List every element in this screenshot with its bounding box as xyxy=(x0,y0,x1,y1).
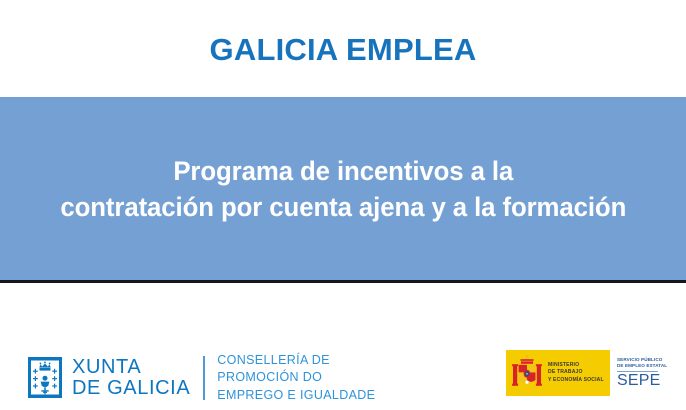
gobierno-espana-sepe-logo: MINISTERIO DE TRABAJO Y ECONOMÍA SOCIAL … xyxy=(506,350,669,396)
galicia-coat-of-arms-icon xyxy=(28,357,62,398)
conselleria-line-3: EMPREGO E IGUALDADE xyxy=(217,387,375,404)
ministerio-line-2: DE TRABAJO xyxy=(548,369,604,377)
conselleria-line-1: CONSELLERÍA DE xyxy=(217,352,375,369)
xunta-wordmark-line-1: XUNTA xyxy=(72,357,190,378)
xunta-wordmark-line-2: DE GALICIA xyxy=(72,378,190,399)
sepe-block: SERVICIO PÚBLICO DE EMPLEO ESTATAL SEPE xyxy=(610,350,669,396)
page-title: GALICIA EMPLEA xyxy=(210,34,477,65)
program-banner: Programa de incentivos a la contratación… xyxy=(0,97,686,283)
xunta-wordmark: XUNTA DE GALICIA xyxy=(72,357,190,399)
banner-subtitle-line-1: Programa de incentivos a la xyxy=(60,154,626,190)
banner-subtitle: Programa de incentivos a la contratación… xyxy=(50,154,635,225)
spain-coat-of-arms-icon xyxy=(511,354,543,392)
footer-logos: XUNTA DE GALICIA CONSELLERÍA DE PROMOCIÓ… xyxy=(0,286,686,410)
sepe-name-line-2: DE EMPLEO ESTATAL xyxy=(617,363,667,370)
title-section: GALICIA EMPLEA xyxy=(0,0,686,97)
ministerio-line-3: Y ECONOMÍA SOCIAL xyxy=(548,377,604,385)
sepe-acronym: SEPE xyxy=(617,373,661,389)
ministerio-block: MINISTERIO DE TRABAJO Y ECONOMÍA SOCIAL xyxy=(506,350,610,396)
logo-divider xyxy=(203,356,205,400)
conselleria-line-2: PROMOCIÓN DO xyxy=(217,369,375,386)
ministerio-line-1: MINISTERIO xyxy=(548,362,604,370)
sepe-name-line-1: SERVICIO PÚBLICO xyxy=(617,357,667,364)
sepe-full-name: SERVICIO PÚBLICO DE EMPLEO ESTATAL xyxy=(617,357,667,370)
banner-subtitle-line-2: contratación por cuenta ajena y a la for… xyxy=(60,190,626,226)
conselleria-name: CONSELLERÍA DE PROMOCIÓN DO EMPREGO E IG… xyxy=(217,352,375,404)
ministerio-text: MINISTERIO DE TRABAJO Y ECONOMÍA SOCIAL xyxy=(548,362,604,385)
xunta-de-galicia-logo: XUNTA DE GALICIA CONSELLERÍA DE PROMOCIÓ… xyxy=(28,352,375,404)
